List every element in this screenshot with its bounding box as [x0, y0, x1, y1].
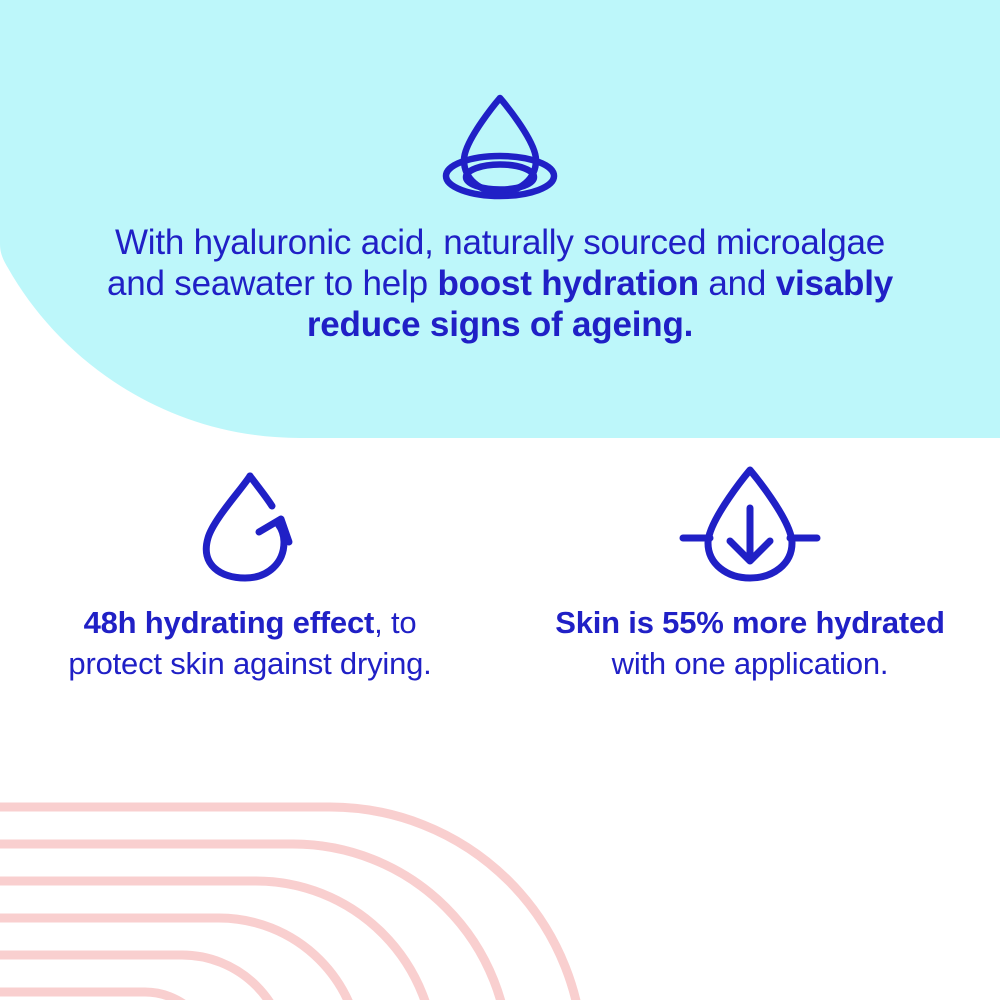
pink-arc	[0, 844, 509, 1000]
droplet-refresh-arrow-glyph	[175, 462, 325, 584]
hero-panel-shape	[0, 0, 1000, 440]
droplet-down-arrow-icon	[675, 462, 825, 584]
promo-graphic: With hyaluronic acid, naturally sourced …	[0, 0, 1000, 1000]
pink-arc	[0, 881, 435, 1000]
hero-panel	[0, 0, 1000, 440]
pink-arc	[0, 955, 287, 1000]
droplet-refresh-arrow-icon	[175, 462, 325, 584]
hero-paragraph: With hyaluronic acid, naturally sourced …	[100, 222, 900, 345]
benefit-text-hydration: Skin is 55% more hydrated with one appli…	[535, 602, 965, 684]
droplet-down-arrow-glyph	[675, 462, 825, 584]
benefit-text-48h: 48h hydrating effect, to protect skin ag…	[35, 602, 465, 684]
pink-arc	[0, 807, 583, 1000]
water-droplet-ripple-icon	[432, 88, 568, 204]
benefits-row: 48h hydrating effect, to protect skin ag…	[0, 462, 1000, 684]
pink-arc	[0, 992, 213, 1000]
pink-arc	[0, 918, 361, 1000]
benefit-item-hydration: Skin is 55% more hydrated with one appli…	[500, 462, 1000, 684]
benefit-item-48h: 48h hydrating effect, to protect skin ag…	[0, 462, 500, 684]
water-droplet-ripple-glyph	[432, 88, 568, 204]
